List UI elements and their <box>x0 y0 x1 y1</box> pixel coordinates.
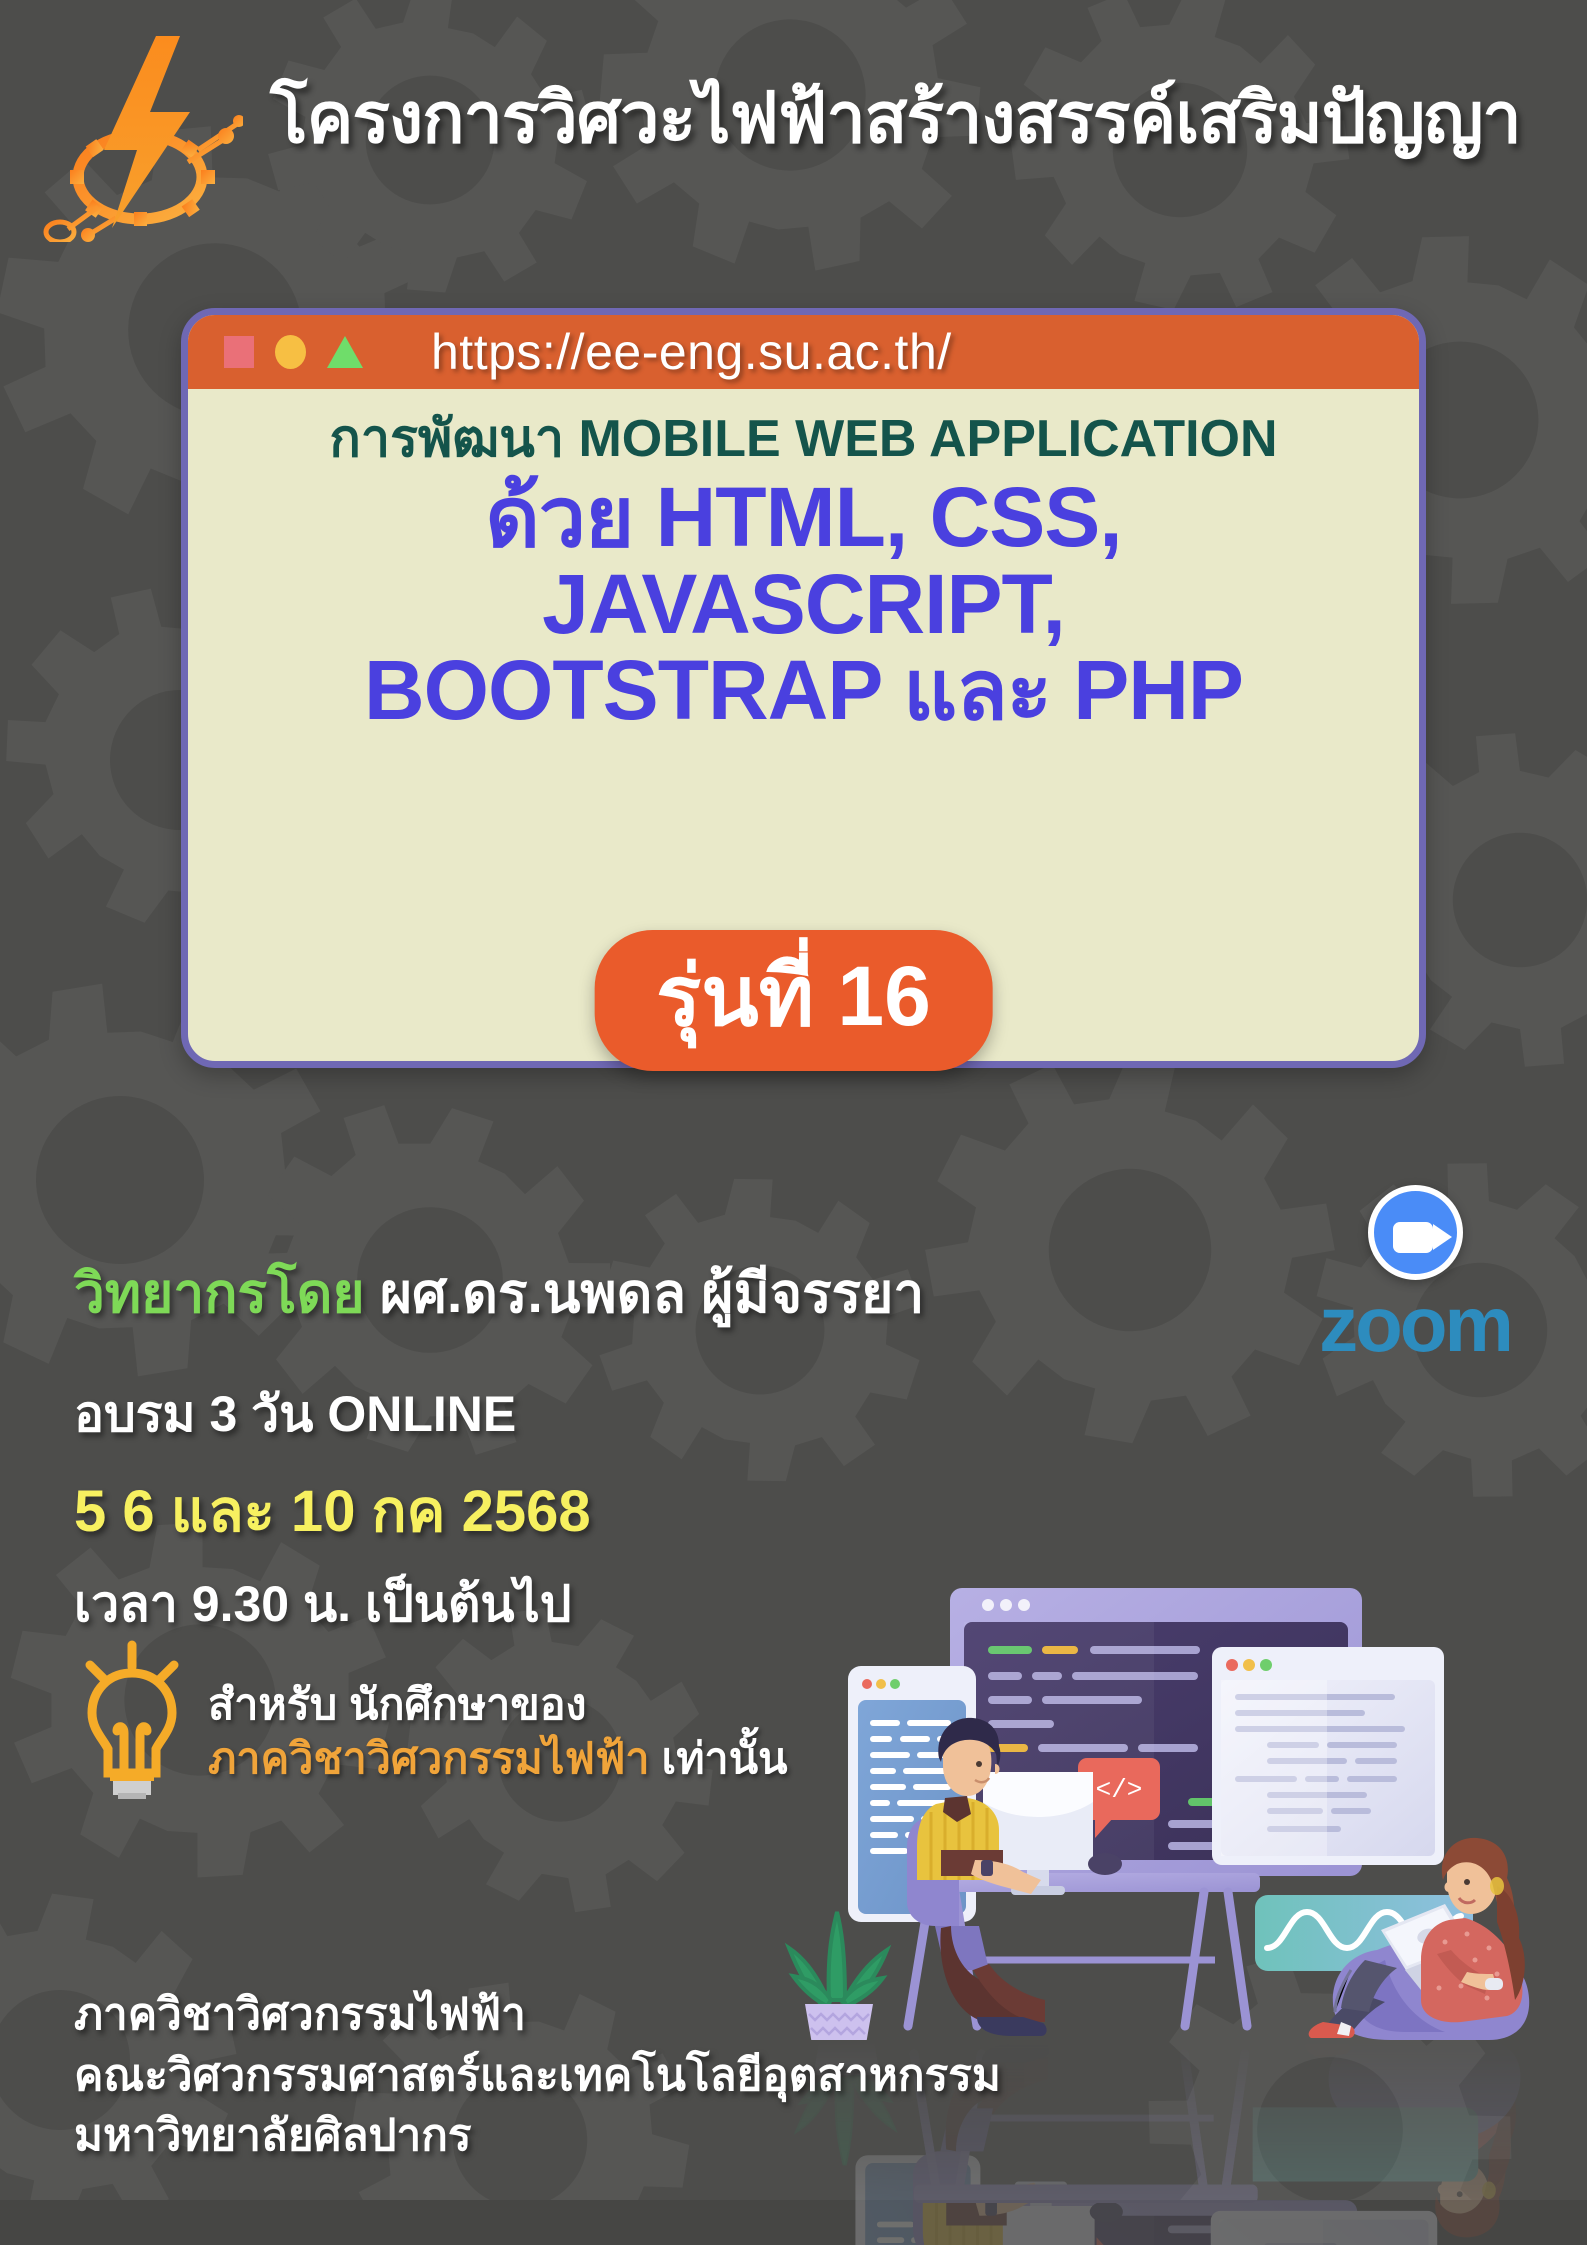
url-bar-text[interactable]: https://ee-eng.su.ac.th/ <box>431 323 952 381</box>
audience-line-1: สำหรับ นักศึกษาของ <box>208 1679 788 1733</box>
footer-line-3: มหาวิทยาลัยศิลปากร <box>74 2106 1001 2167</box>
audience-line-2: ภาควิชาวิศวกรรมไฟฟ้า เท่านั้น <box>208 1733 788 1787</box>
svg-text:</>: </> <box>1096 1775 1143 1805</box>
audience-note: สำหรับ นักศึกษาของ ภาควิชาวิศวกรรมไฟฟ้า … <box>72 1635 788 1800</box>
audience-department: ภาควิชาวิศวกรรมไฟฟ้า <box>208 1735 650 1783</box>
footer-organization: ภาควิชาวิศวกรรมไฟฟ้า คณะวิศวกรรมศาสตร์แล… <box>74 1985 1001 2167</box>
training-time: เวลา 9.30 น. เป็นต้นไป <box>74 1565 924 1644</box>
training-days: อบรม 3 วัน ONLINE <box>74 1375 924 1454</box>
course-title-line-3: BOOTSTRAP และ PHP <box>206 647 1401 734</box>
window-close-square-icon[interactable] <box>224 336 254 368</box>
footer-line-1: ภาควิชาวิศวกรรมไฟฟ้า <box>74 1985 1001 2046</box>
zoom-logo: zoom <box>1290 1185 1540 1385</box>
window-maximize-triangle-icon[interactable] <box>327 336 363 368</box>
poster-header: โครงการวิศวะไฟฟ้าสร้างสรรค์เสริมปัญญา <box>0 0 1587 250</box>
window-traffic-lights <box>224 335 363 369</box>
page-title: โครงการวิศวะไฟฟ้าสร้างสรรค์เสริมปัญญา <box>270 62 1521 173</box>
event-info-block: วิทยากรโดย ผศ.ดร.นพดล ผู้มีจรรยา อบรม 3 … <box>74 1250 924 1644</box>
audience-text: สำหรับ นักศึกษาของ ภาควิชาวิศวกรรมไฟฟ้า … <box>208 1635 788 1787</box>
window-minimize-circle-icon[interactable] <box>275 335 306 369</box>
speaker-label: วิทยากรโดย <box>74 1262 365 1324</box>
speaker-name: ผศ.ดร.นพดล ผู้มีจรรยา <box>380 1262 924 1324</box>
zoom-wordmark: zoom <box>1290 1285 1540 1363</box>
speaker-line: วิทยากรโดย ผศ.ดร.นพดล ผู้มีจรรยา <box>74 1250 924 1337</box>
audience-only: เท่านั้น <box>650 1735 788 1783</box>
course-title: ด้วย HTML, CSS, JAVASCRIPT, BOOTSTRAP แล… <box>206 474 1401 734</box>
zoom-video-camera-icon <box>1368 1185 1463 1280</box>
training-dates: 5 6 และ 10 กค 2568 <box>74 1464 924 1557</box>
batch-number-badge: รุ่นที่ 16 <box>594 930 993 1071</box>
course-subtitle: การพัฒนา MOBILE WEB APPLICATION <box>206 411 1401 468</box>
course-title-line-2: JAVASCRIPT, <box>206 561 1401 648</box>
footer-line-2: คณะวิศวกรรมศาสตร์และเทคโนโลยีอุตสาหกรรม <box>74 2046 1001 2107</box>
browser-title-bar: https://ee-eng.su.ac.th/ <box>188 315 1419 389</box>
lightbulb-icon <box>72 1635 192 1800</box>
course-title-line-1: ด้วย HTML, CSS, <box>206 474 1401 561</box>
lightning-gear-logo <box>38 22 243 242</box>
